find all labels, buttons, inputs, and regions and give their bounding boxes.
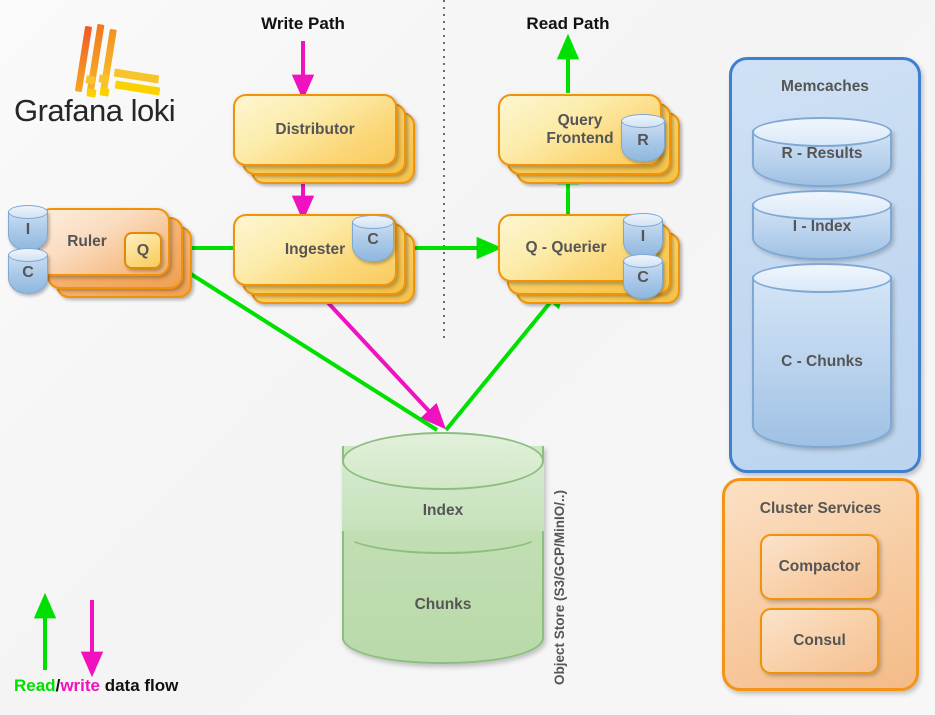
cylinder-top: [8, 248, 48, 262]
badge-ingester-chunks-label: C: [352, 231, 394, 249]
node-distributor[interactable]: Distributor: [233, 94, 393, 180]
badge-querier-index-icon[interactable]: I: [623, 213, 663, 258]
logo-bar-7: [98, 74, 108, 83]
service-compactor[interactable]: Compactor: [760, 534, 879, 600]
panel-memcaches-title: Memcaches: [732, 78, 918, 96]
legend-read-word: Read: [14, 676, 56, 695]
badge-ruler-index-icon[interactable]: I: [8, 205, 48, 251]
object-store-index-label: Index: [342, 502, 544, 520]
object-store-chunks-label: Chunks: [342, 596, 544, 614]
cylinder-top: [623, 213, 663, 227]
logo-wordmark: Grafana loki: [14, 93, 175, 129]
panel-cluster-services-title: Cluster Services: [725, 500, 916, 518]
query-frontend-line2: Frontend: [546, 130, 613, 148]
cylinder-top: [752, 190, 892, 220]
memcache-index-label: I - Index: [752, 218, 892, 236]
badge-results-label: R: [621, 132, 665, 150]
write-path-label: Write Path: [233, 14, 373, 34]
cylinder-top: [623, 254, 663, 268]
memcache-chunks-label: C - Chunks: [752, 353, 892, 371]
badge-querier-chunks-label: C: [623, 269, 663, 287]
object-store-caption: Object Store (S3/GCP/MinIO/..): [552, 490, 567, 685]
cylinder-top: [621, 114, 665, 128]
node-distributor-label: Distributor: [233, 94, 397, 166]
logo-bar-6: [85, 75, 95, 84]
arrow-objectstore-to-querier: [446, 288, 562, 430]
cylinder-top: [8, 205, 48, 219]
legend-write-word: write: [60, 676, 100, 695]
memcache-chunks[interactable]: C - Chunks: [752, 263, 892, 448]
badge-ruler-chunks-label: C: [8, 264, 48, 282]
badge-ingester-chunks-icon[interactable]: C: [352, 215, 394, 262]
grafana-loki-logo: Grafana loki: [14, 14, 214, 114]
badge-ruler-chunks-icon[interactable]: C: [8, 248, 48, 294]
service-consul[interactable]: Consul: [760, 608, 879, 674]
badge-ruler-index-label: I: [8, 221, 48, 239]
cylinder-top: [752, 117, 892, 147]
memcache-results-label: R - Results: [752, 145, 892, 163]
node-ruler[interactable]: Ruler: [38, 208, 188, 300]
badge-querier-index-label: I: [623, 228, 663, 246]
object-store-cylinder[interactable]: Index Chunks: [342, 432, 544, 664]
read-path-label: Read Path: [498, 14, 638, 34]
query-frontend-line1: Query: [546, 112, 613, 130]
badge-results-cache-icon[interactable]: R: [621, 114, 665, 162]
object-store-top-ellipse: [342, 432, 544, 490]
badge-ruler-querier[interactable]: Q: [124, 232, 162, 269]
diagram-canvas: Grafana loki Write Path Read Path Distri…: [0, 0, 935, 715]
cylinder-top: [352, 215, 394, 229]
legend-suffix: data flow: [100, 676, 178, 695]
cylinder-top: [752, 263, 892, 293]
memcache-results[interactable]: R - Results: [752, 117, 892, 187]
memcache-index[interactable]: I - Index: [752, 190, 892, 260]
legend-label: Read/write data flow: [14, 676, 178, 696]
badge-querier-chunks-icon[interactable]: C: [623, 254, 663, 299]
